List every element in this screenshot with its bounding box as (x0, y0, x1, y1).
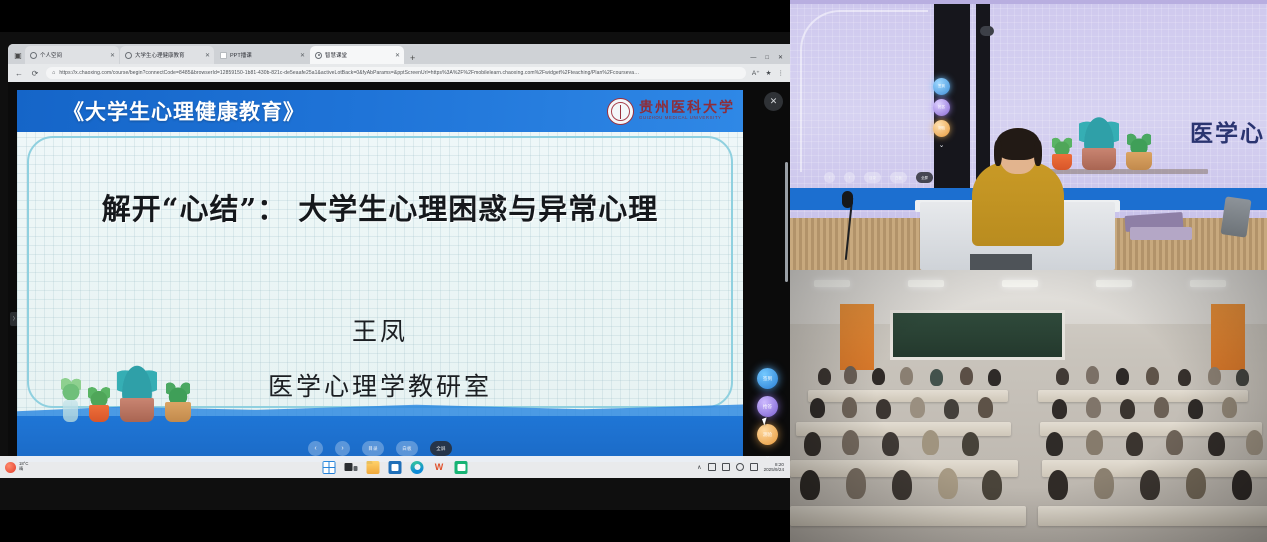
contents-button[interactable]: 目录 (362, 441, 384, 456)
projected-pill-icon (980, 26, 994, 36)
favorite-icon[interactable]: ★ (766, 69, 772, 77)
university-logo: 贵州医科大学 GUIZHOU MEDICAL UNIVERSITY (607, 98, 735, 125)
desk-books-2 (1130, 227, 1192, 240)
slide-body: 解开“心结”： 大学生心理困惑与异常心理 王凤 医学心理学教研室 (17, 132, 743, 462)
projected-slide-text: 医学心 (1190, 114, 1265, 148)
globe-icon (30, 52, 37, 59)
clock-date: 2025/9/24 (764, 467, 784, 472)
taskbar-edge[interactable] (411, 461, 424, 474)
audience-camera-feed (790, 270, 1267, 542)
plant-illustrations (63, 398, 191, 422)
plant-small-cactus-icon (165, 402, 191, 422)
scrollbar-thumb[interactable] (785, 162, 788, 282)
float-button-answer[interactable]: 抢答 (757, 396, 778, 417)
teaching-tools-rail: 签到 抢答 测验 ⌄ (757, 368, 778, 460)
browser-window: ▣ 个人空间 ✕ 大学生心理健康教育 ✕ PPT播课 ✕ (8, 44, 790, 476)
back-icon[interactable]: ← (14, 69, 24, 78)
close-icon[interactable]: ✕ (395, 52, 400, 59)
slide-main-title: 解开“心结”： 大学生心理困惑与异常心理 (17, 186, 743, 228)
page-icon (220, 52, 227, 59)
close-window-button[interactable]: ✕ (778, 54, 783, 61)
weather-widget[interactable]: 18°C 晴 (0, 462, 64, 473)
close-icon[interactable]: ✕ (764, 92, 783, 111)
battery-icon[interactable] (750, 463, 758, 471)
browser-tab-2[interactable]: PPT播课 ✕ (215, 46, 309, 64)
close-icon[interactable]: ✕ (300, 52, 305, 59)
projected-chevron-down-icon: ⌄ (933, 141, 950, 149)
fullscreen-button[interactable]: 全屏 (430, 441, 452, 456)
window-controls: — □ ✕ (750, 54, 790, 64)
browser-tab-strip: ▣ 个人空间 ✕ 大学生心理健康教育 ✕ PPT播课 ✕ (8, 44, 790, 64)
system-tray: ∧ 8:20 2025/9/24 (697, 462, 790, 473)
close-icon[interactable]: ✕ (205, 52, 210, 59)
plant-bottle-icon (63, 400, 78, 422)
minimize-button[interactable]: — (750, 55, 756, 61)
tab-label: 大学生心理健康教育 (135, 51, 202, 59)
lecturer-camera-feed: 签到 抢答 测验 ⌄ ‹ › 目录 白板 全屏 医学心 (790, 0, 1267, 270)
lecturer (972, 116, 1064, 246)
windows-taskbar: 18°C 晴 W ∧ (0, 456, 790, 478)
wall-panel-left (840, 304, 874, 370)
slide-controls: ‹ › 目录 白板 全屏 (308, 441, 452, 456)
address-text: https://x.chaoxing.com/course/begin?conn… (59, 70, 639, 76)
projected-contents: 目录 (864, 172, 881, 183)
projected-prev: ‹ (824, 172, 835, 183)
tray-overflow-icon[interactable]: ∧ (697, 464, 701, 471)
taskbar-clock[interactable]: 8:20 2025/9/24 (764, 462, 784, 473)
ceiling-light (1096, 280, 1132, 287)
projected-plant-small (1126, 152, 1152, 170)
classroom-video-pane: 签到 抢答 测验 ⌄ ‹ › 目录 白板 全屏 医学心 (790, 0, 1267, 542)
taskbar-file-explorer[interactable] (367, 461, 380, 474)
taskbar-wps[interactable]: W (433, 461, 446, 474)
weather-icon (5, 462, 16, 473)
projected-frame (800, 10, 928, 172)
taskbar-meeting[interactable] (455, 461, 468, 474)
maximize-button[interactable]: □ (765, 55, 769, 61)
projected-plants (1052, 148, 1152, 170)
wall-panel-right (1211, 304, 1245, 370)
presenter-name: 王凤 (17, 312, 743, 348)
windows-desktop: ▣ 个人空间 ✕ 大学生心理健康教育 ✕ PPT播课 ✕ (0, 32, 790, 510)
browser-omnibar: ← ⟳ ⌂ https://x.chaoxing.com/course/begi… (8, 64, 790, 82)
projected-plant-agave (1082, 148, 1116, 170)
university-name-en: GUIZHOU MEDICAL UNIVERSITY (639, 116, 735, 121)
projected-float-signin: 签到 (933, 78, 950, 95)
weather-desc: 晴 (19, 467, 28, 472)
projected-tools-rail: 签到 抢答 测验 ⌄ (933, 78, 950, 149)
volume-icon[interactable] (736, 463, 744, 471)
taskbar-photos[interactable] (389, 461, 402, 474)
taskbar-start[interactable] (323, 461, 336, 474)
ime-icon[interactable] (708, 463, 716, 471)
podium-monitor (970, 254, 1032, 270)
projected-float-quiz: 测验 (933, 120, 950, 137)
gear-icon (315, 52, 322, 59)
new-tab-button[interactable]: + (405, 54, 420, 64)
more-menu-icon[interactable]: ⋮ (778, 69, 785, 77)
slide-header: 《大学生心理健康教育》 贵州医科大学 GUIZHOU MEDICAL UNIVE… (17, 90, 743, 132)
browser-tab-3[interactable]: 智慧课堂 ✕ (310, 46, 404, 64)
lecturer-hair (996, 128, 1040, 160)
network-icon[interactable] (722, 463, 730, 471)
prev-slide-button[interactable]: ‹ (308, 441, 323, 456)
browser-tab-0[interactable]: 个人空间 ✕ (25, 46, 119, 64)
close-icon[interactable]: ✕ (110, 52, 115, 59)
browser-tab-1[interactable]: 大学生心理健康教育 ✕ (120, 46, 214, 64)
lock-icon: ⌂ (52, 70, 55, 76)
desk-equipment (1220, 196, 1251, 237)
tab-label: PPT播课 (230, 51, 297, 59)
omnibar-actions: A⁺ ★ ⋮ (752, 69, 784, 77)
reload-icon[interactable]: ⟳ (30, 69, 40, 78)
float-button-signin[interactable]: 签到 (757, 368, 778, 389)
university-seal-icon (607, 98, 634, 125)
ceiling-light (1190, 280, 1226, 287)
float-button-quiz[interactable]: 测验 (757, 424, 778, 445)
globe-icon (125, 52, 132, 59)
address-input[interactable]: ⌂ https://x.chaoxing.com/course/begin?co… (46, 67, 746, 79)
microphone (842, 191, 853, 208)
shared-screen-pane: ▣ 个人空间 ✕ 大学生心理健康教育 ✕ PPT播课 ✕ (0, 0, 790, 542)
whiteboard-button[interactable]: 白板 (396, 441, 418, 456)
lecturer-body (972, 162, 1064, 246)
ppt-viewer: ⟩ 《大学生心理健康教育》 贵州医科大学 GUIZHOU MEDICAL UNI… (8, 82, 790, 476)
projected-fullscreen: 全屏 (916, 172, 933, 183)
university-name-cn: 贵州医科大学 (639, 101, 735, 116)
course-title: 《大学生心理健康教育》 (63, 96, 305, 126)
tab-label: 智慧课堂 (325, 51, 392, 59)
projected-float-answer: 抢答 (933, 99, 950, 116)
classroom-blackboard (890, 310, 1065, 360)
tab-search-icon[interactable]: ▣ (11, 46, 25, 64)
plant-cactus-icon (89, 405, 109, 422)
presentation-slide: 《大学生心理健康教育》 贵州医科大学 GUIZHOU MEDICAL UNIVE… (17, 90, 743, 462)
ceiling-light (814, 280, 850, 287)
zoom-text-icon[interactable]: A⁺ (752, 69, 760, 77)
next-slide-button[interactable]: › (335, 441, 350, 456)
ceiling-light (1002, 280, 1038, 287)
ceiling-light (908, 280, 944, 287)
taskbar-icons: W (323, 461, 468, 474)
projected-slide-controls: ‹ › 目录 白板 全屏 (824, 172, 933, 183)
screen-share-stage: ▣ 个人空间 ✕ 大学生心理健康教育 ✕ PPT播课 ✕ (0, 0, 1267, 542)
projected-whiteboard: 白板 (890, 172, 907, 183)
projected-next: › (844, 172, 855, 183)
university-name: 贵州医科大学 GUIZHOU MEDICAL UNIVERSITY (639, 101, 735, 120)
taskbar-task-view[interactable] (345, 461, 358, 474)
plant-agave-icon (120, 398, 154, 422)
tab-label: 个人空间 (40, 51, 107, 59)
